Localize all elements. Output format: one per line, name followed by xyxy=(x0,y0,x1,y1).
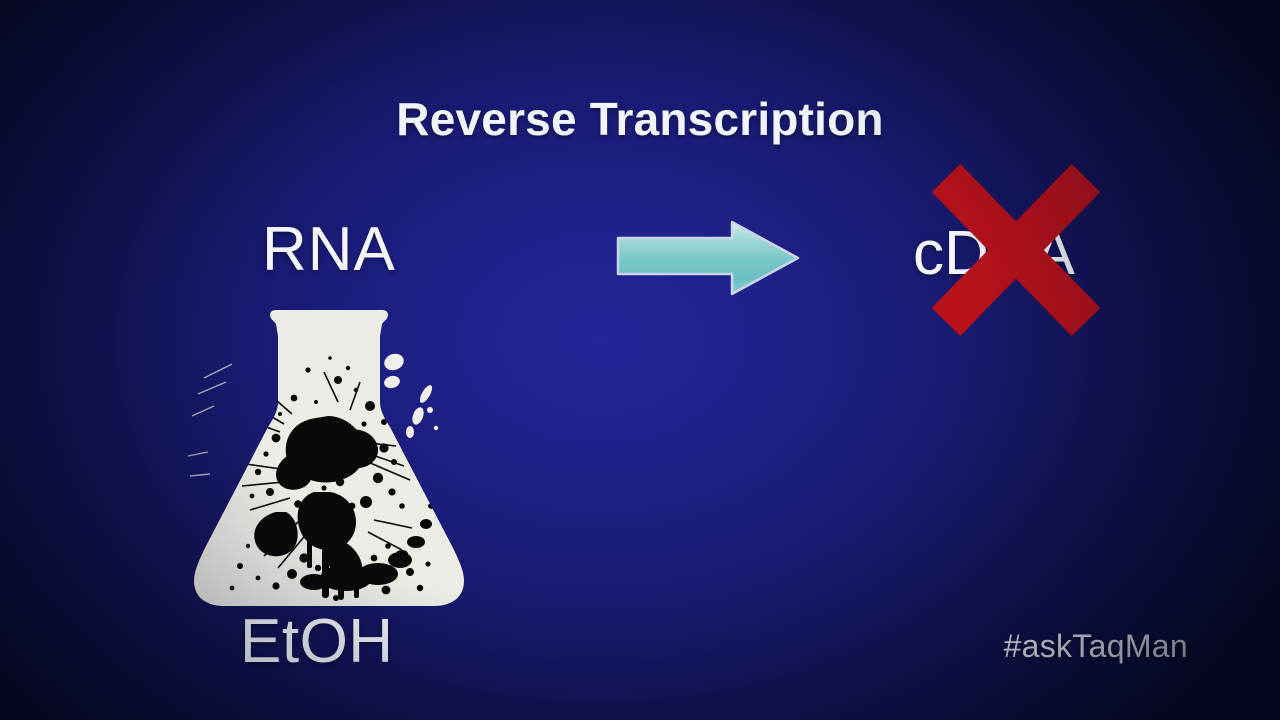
label-rna: RNA xyxy=(262,214,396,285)
arrow-shape xyxy=(618,222,798,294)
scratch-marks xyxy=(188,364,232,476)
white-droplets xyxy=(382,351,438,438)
erlenmeyer-flask-icon xyxy=(188,306,470,614)
x-strokes xyxy=(946,178,1086,322)
right-arrow-icon xyxy=(612,214,804,302)
red-x-icon xyxy=(928,162,1104,338)
flask-svg xyxy=(188,306,470,614)
page-title: Reverse Transcription xyxy=(0,92,1280,146)
red-x-svg xyxy=(928,162,1104,338)
hashtag-asktaqman: #askTaqMan xyxy=(1004,628,1188,665)
slide-canvas: Reverse Transcription RNA cDNA xyxy=(0,0,1280,720)
label-etoh: EtOH xyxy=(240,606,394,677)
right-arrow-svg xyxy=(612,214,804,302)
